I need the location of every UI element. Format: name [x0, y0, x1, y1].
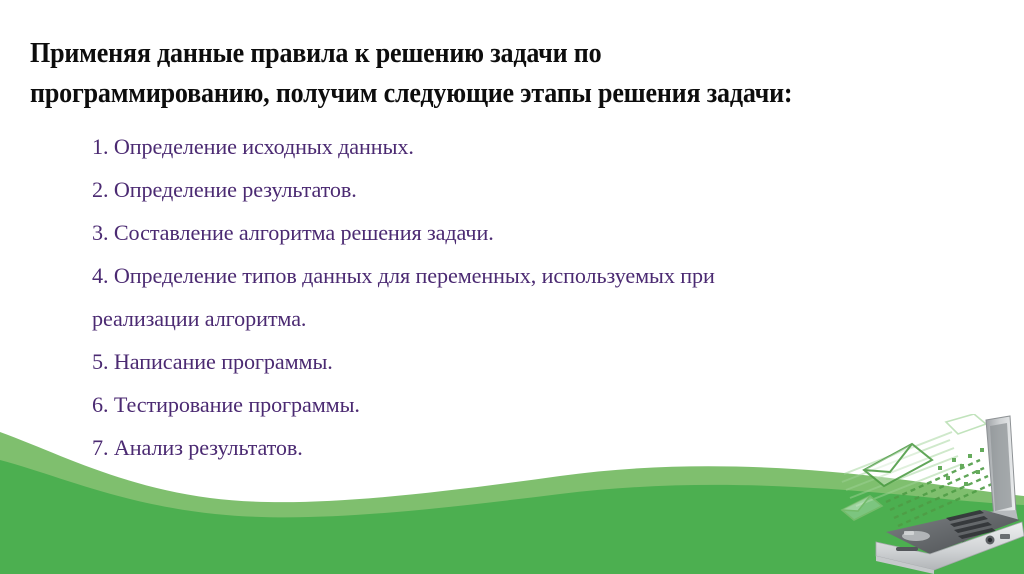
- envelope-icon-small: [842, 496, 882, 520]
- presentation-slide: Применяя данные правила к решению задачи…: [0, 0, 1024, 574]
- wave-dark: [0, 460, 1024, 574]
- list-item: 7. Анализ результатов.: [92, 426, 959, 469]
- list-item: 4. Определение типов данных для переменн…: [92, 254, 959, 340]
- list-item: 2. Определение результатов.: [92, 168, 959, 211]
- slide-heading: Применяя данные правила к решению задачи…: [30, 34, 914, 114]
- list-item: 3. Составление алгоритма решения задачи.: [92, 211, 959, 254]
- steps-list: 1. Определение исходных данных. 2. Опред…: [92, 125, 972, 469]
- list-item: 6. Тестирование программы.: [92, 383, 959, 426]
- list-item: 1. Определение исходных данных.: [92, 125, 959, 168]
- list-item: 5. Написание программы.: [92, 340, 959, 383]
